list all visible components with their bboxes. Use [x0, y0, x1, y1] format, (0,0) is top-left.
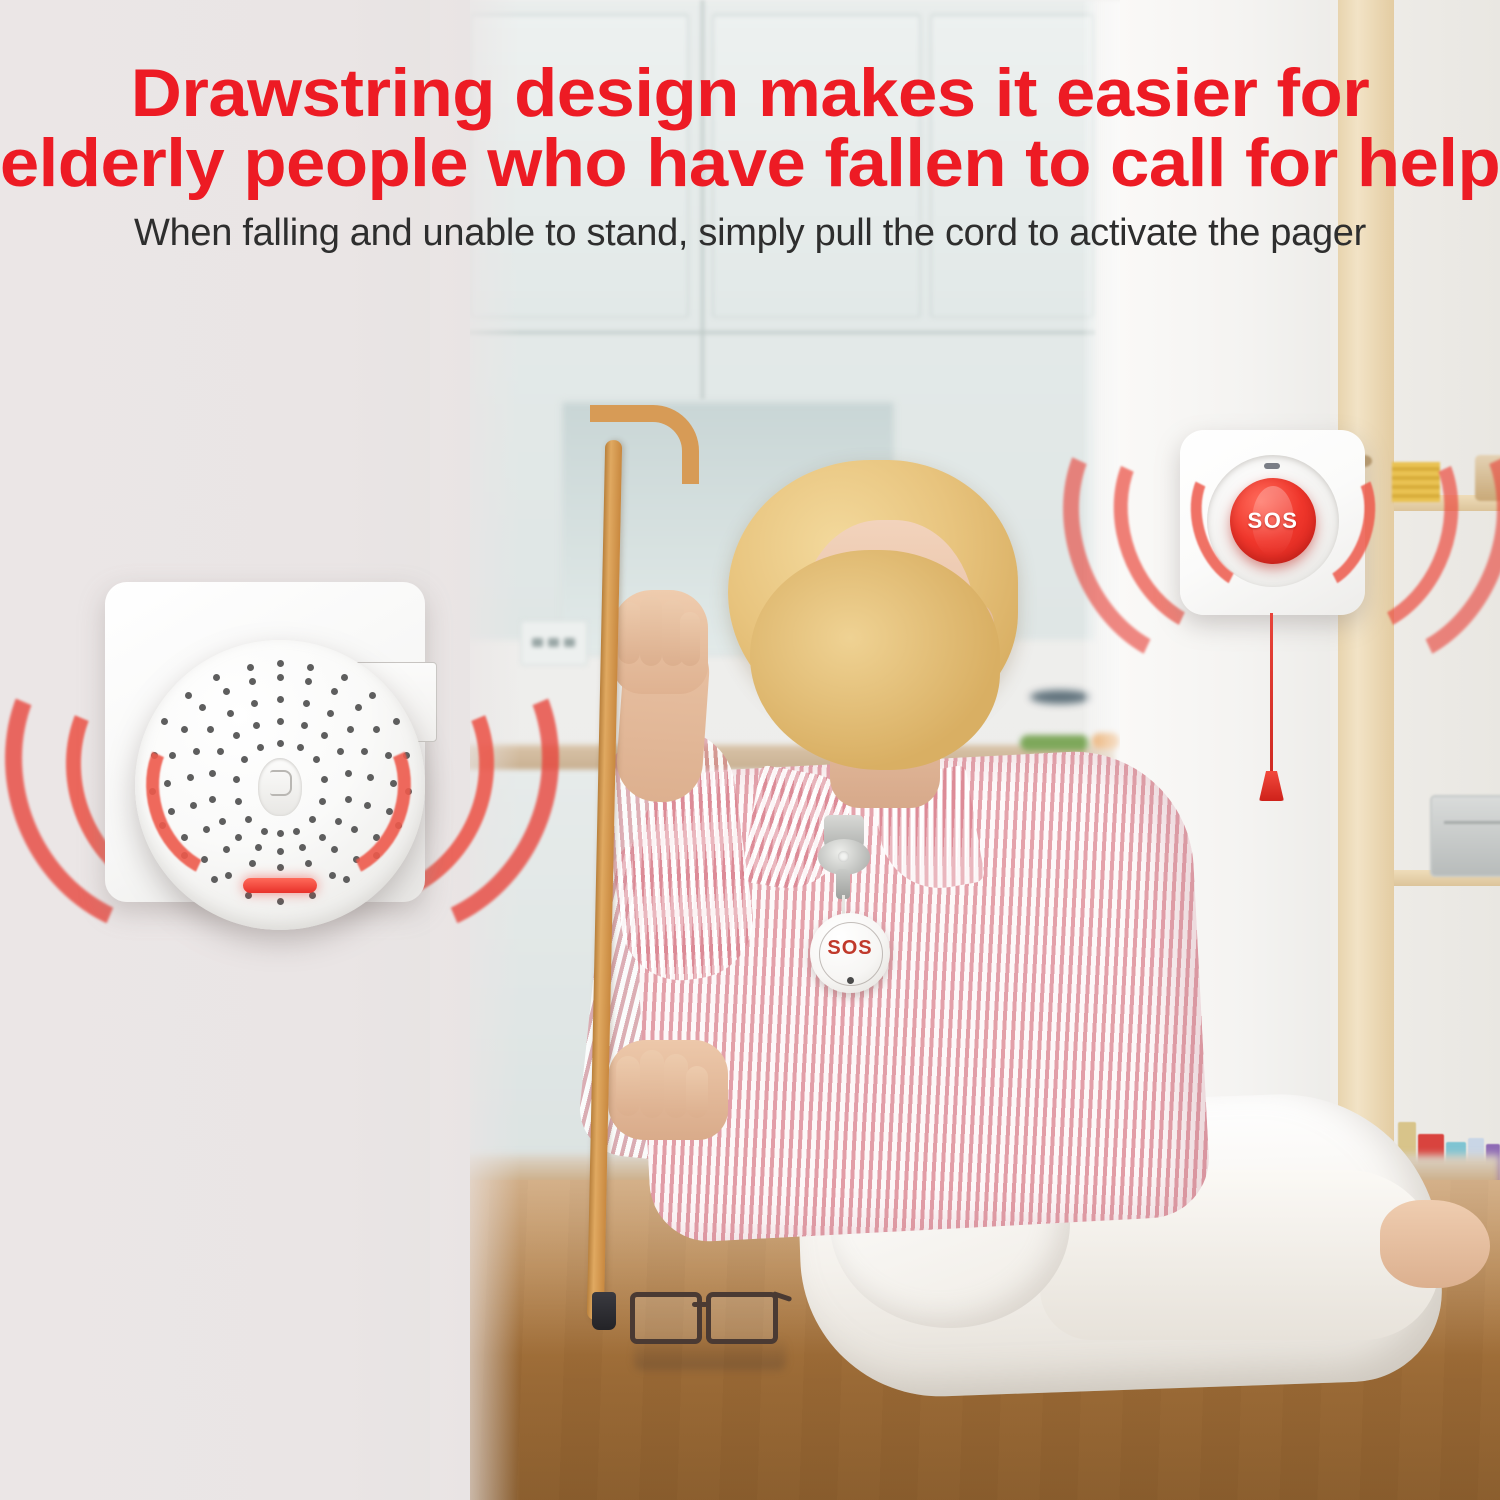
cabinet-seam — [455, 330, 1095, 335]
lower-hand — [608, 1040, 728, 1140]
page-subheadline: When falling and unable to stand, simply… — [0, 212, 1500, 255]
finger — [616, 1056, 640, 1116]
finger — [686, 1066, 708, 1118]
finger — [640, 596, 662, 666]
sos-pull-cord[interactable] — [1270, 613, 1273, 775]
pendant-led — [847, 977, 854, 984]
cane-rubber-tip — [592, 1292, 616, 1330]
finger — [664, 1054, 688, 1118]
sos-pendant[interactable]: SOS — [790, 815, 900, 975]
finger — [618, 602, 640, 664]
pager-receiver-product — [30, 560, 500, 1010]
foot — [1380, 1200, 1490, 1288]
reel-center-dot — [838, 851, 849, 862]
metal-case — [1430, 795, 1500, 877]
headline-line-1: Drawstring design makes it easier for — [131, 55, 1369, 131]
wall-sos-button-product: SOS — [1075, 395, 1465, 795]
hair-front — [750, 550, 1000, 770]
product-marketing-image: SOS — [0, 0, 1500, 1500]
pendant-button[interactable]: SOS — [810, 913, 890, 993]
sos-cord-pull-toggle[interactable] — [1259, 771, 1284, 801]
lens-left — [630, 1292, 702, 1344]
finger — [680, 612, 700, 666]
headline-line-2: elderly people who have fallen to call f… — [0, 128, 1500, 198]
pager-led-indicator — [243, 878, 317, 893]
lens-right — [706, 1292, 778, 1344]
upper-hand — [612, 590, 708, 694]
page-headline: Drawstring design makes it easier for el… — [0, 58, 1500, 198]
pendant-sos-label: SOS — [810, 937, 890, 960]
finger — [640, 1050, 664, 1118]
dropped-eyeglasses — [630, 1288, 790, 1340]
